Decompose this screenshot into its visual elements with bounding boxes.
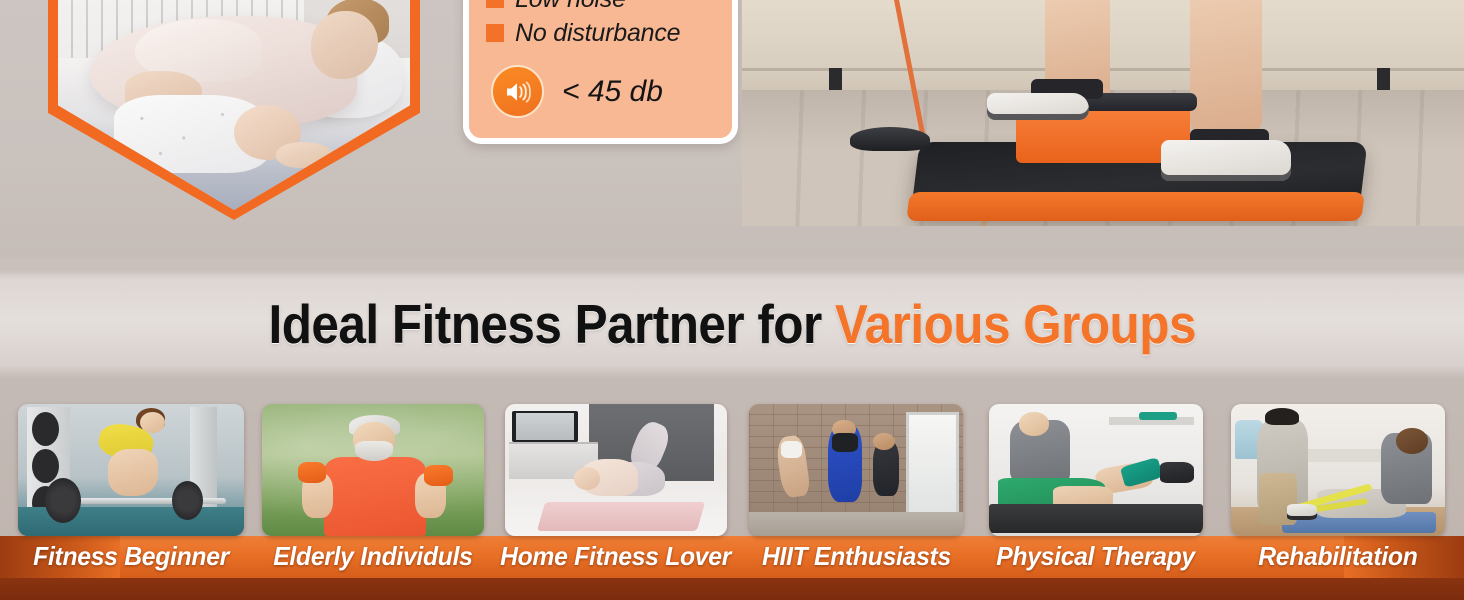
vibration-plate-in-use-photo	[742, 0, 1464, 226]
noise-bullet-label: Low noise	[515, 0, 626, 14]
speaker-volume-icon	[491, 65, 544, 118]
caption-bar: Fitness Beginner	[18, 536, 244, 576]
gym-deadlift-photo	[18, 404, 244, 536]
headline-text-accent: Various Groups	[835, 293, 1196, 355]
low-noise-callout-card: Low noise No disturbance < 45 db	[463, 0, 738, 144]
headline-banner: Ideal Fitness Partner for Various Groups	[0, 270, 1464, 378]
physical-therapy-session-photo	[989, 404, 1203, 536]
square-bullet-icon	[486, 0, 504, 8]
headline-text-dark: Ideal Fitness Partner for	[268, 293, 834, 355]
group-card-physical-therapy[interactable]: Physical Therapy	[989, 390, 1203, 600]
caption-bar: Home Fitness Lover	[505, 536, 727, 576]
group-card-elderly-individuals[interactable]: Elderly Individuls	[262, 390, 484, 600]
square-bullet-icon	[486, 24, 504, 42]
group-caption: Home Fitness Lover	[501, 541, 732, 572]
elderly-man-dumbbells-photo	[262, 404, 484, 536]
hiit-jump-training-photo	[749, 404, 963, 536]
group-card-fitness-beginner[interactable]: Fitness Beginner	[18, 390, 244, 600]
decibel-value: < 45 db	[562, 75, 663, 109]
page-title: Ideal Fitness Partner for Various Groups	[268, 292, 1195, 356]
product-marketing-banner: Low noise No disturbance < 45 db	[0, 0, 1464, 600]
user-groups-row: Fitness Beginner Eld	[0, 390, 1464, 600]
group-card-rehabilitation[interactable]: Rehabilitation	[1231, 390, 1445, 600]
rehabilitation-resistance-band-photo	[1231, 404, 1445, 536]
caption-bar: Rehabilitation	[1231, 536, 1445, 576]
noise-bullet-item: No disturbance	[469, 16, 732, 50]
caption-bar: HIIT Enthusiasts	[749, 536, 963, 576]
home-workout-yoga-mat-photo	[505, 404, 727, 536]
caption-bar: Physical Therapy	[989, 536, 1203, 576]
group-caption: HIIT Enthusiasts	[762, 541, 951, 572]
noise-bullet-label: No disturbance	[515, 19, 680, 48]
group-card-hiit-enthusiasts[interactable]: HIIT Enthusiasts	[749, 390, 963, 600]
noise-bullet-item: Low noise	[469, 0, 732, 16]
decibel-row: < 45 db	[469, 65, 732, 118]
group-caption: Elderly Individuls	[273, 541, 472, 572]
group-caption: Physical Therapy	[997, 541, 1196, 572]
group-caption: Rehabilitation	[1258, 541, 1417, 572]
caption-bar: Elderly Individuls	[262, 536, 484, 576]
group-caption: Fitness Beginner	[33, 541, 229, 572]
sleep-photo-frame	[48, 0, 420, 220]
mother-and-baby-sleeping-photo	[58, 0, 410, 210]
top-feature-section: Low noise No disturbance < 45 db	[0, 0, 1464, 258]
group-card-home-fitness-lover[interactable]: Home Fitness Lover	[505, 390, 727, 600]
